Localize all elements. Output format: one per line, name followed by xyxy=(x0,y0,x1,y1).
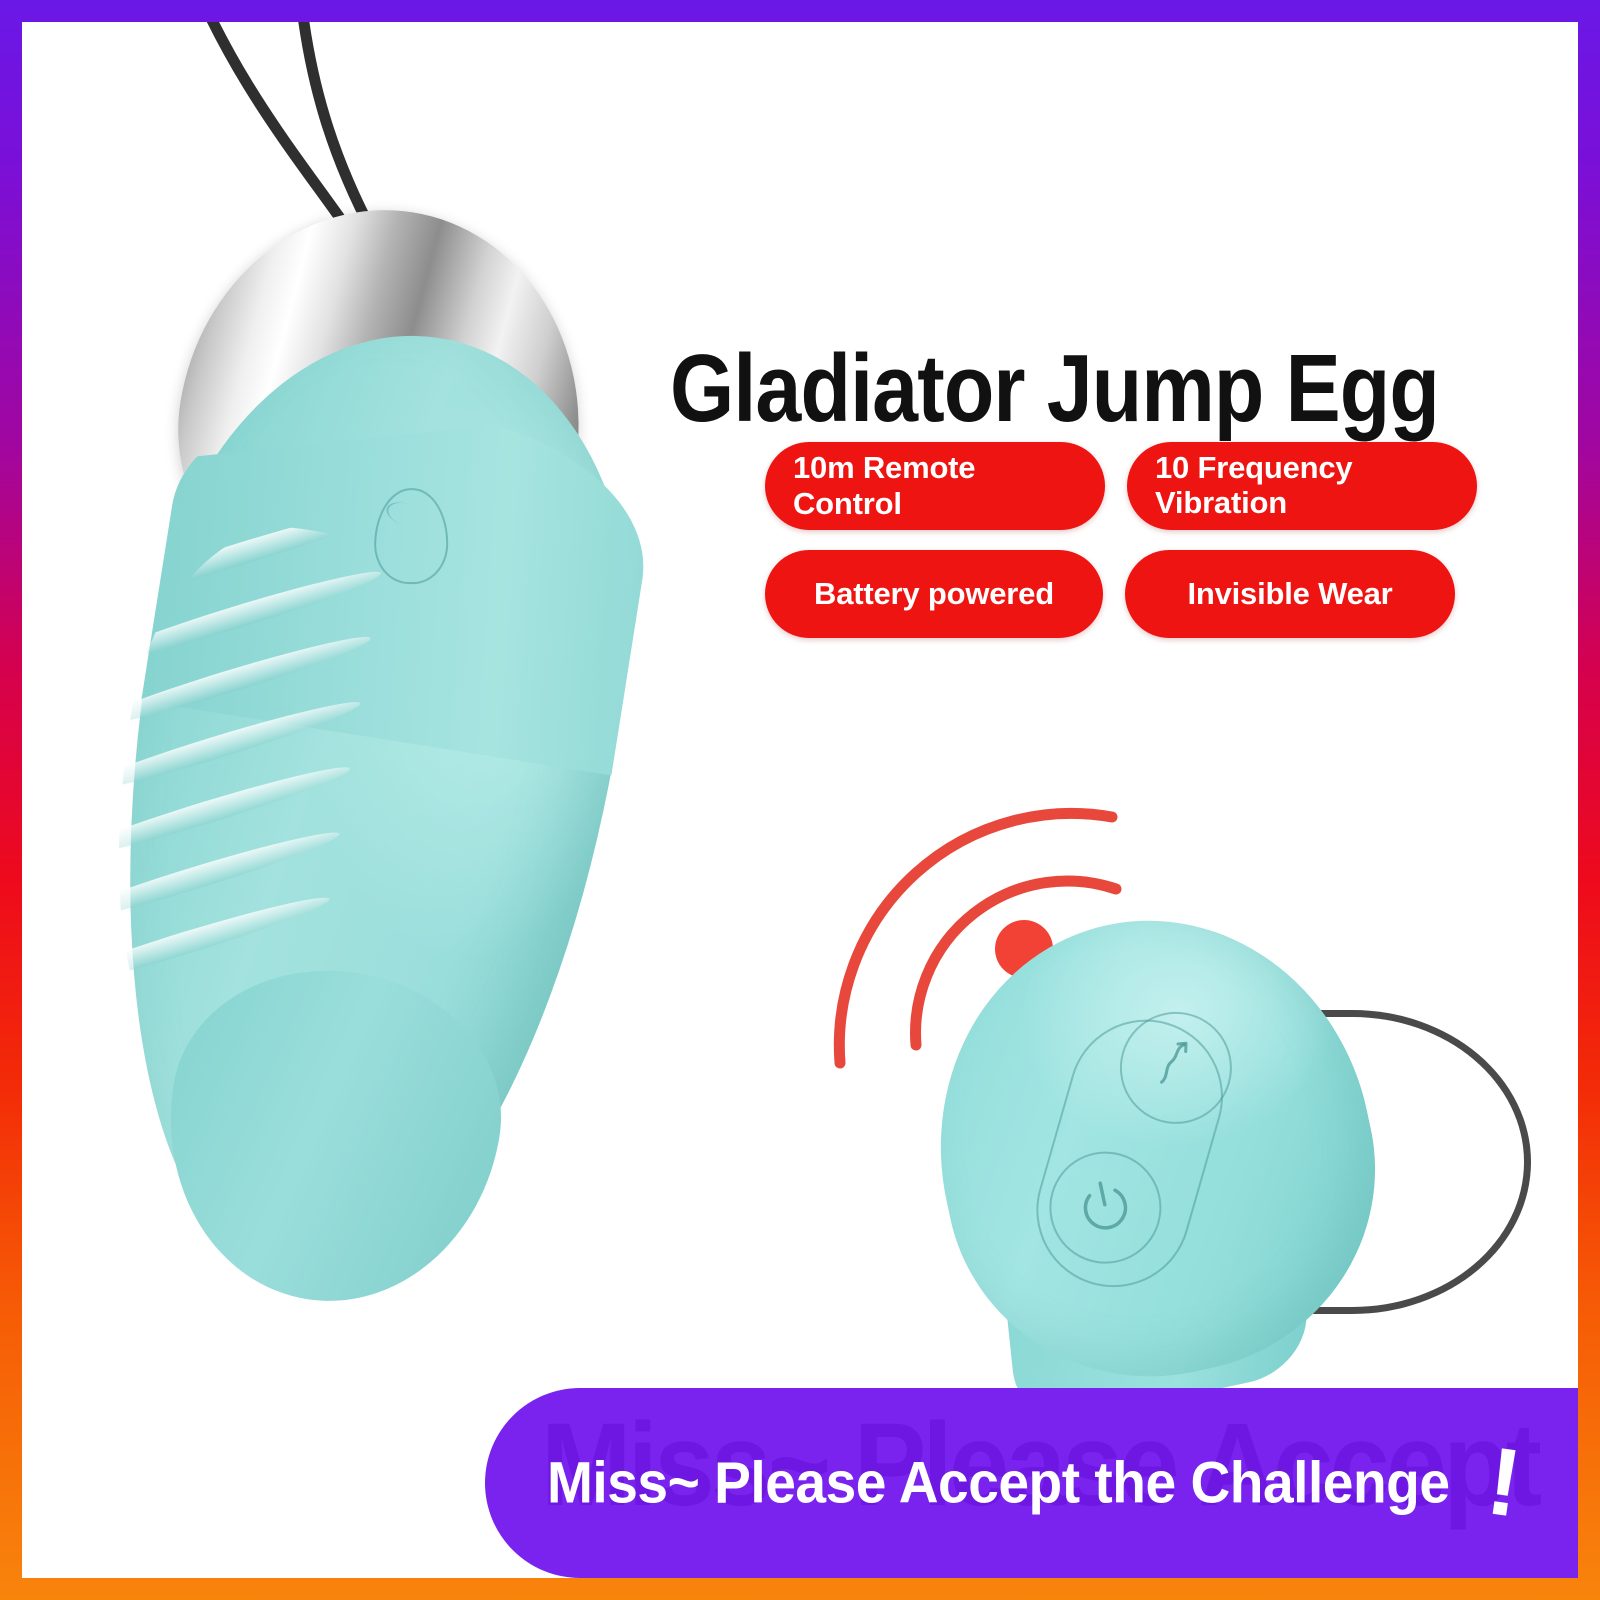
badge-label: 10m Remote Control xyxy=(793,450,1077,522)
remote-shell xyxy=(897,880,1412,1414)
page-title: Gladiator Jump Egg xyxy=(670,341,1410,437)
feature-badge-invisible-wear[interactable]: Invisible Wear xyxy=(1125,550,1455,638)
badge-label: 10 Frequency Vibration xyxy=(1155,451,1352,520)
ad-stage: Gladiator Jump Egg 10m Remote Control 10… xyxy=(22,22,1578,1578)
product-ad-card: Gladiator Jump Egg 10m Remote Control 10… xyxy=(0,0,1600,1600)
bottom-promo-banner: Miss~ Please Accept Miss~ Please Accept … xyxy=(485,1388,1578,1578)
power-icon xyxy=(1062,1164,1150,1252)
vibration-wave-icon xyxy=(1132,1024,1220,1112)
feature-badge-group: 10m Remote Control 10 Frequency Vibratio… xyxy=(765,442,1505,658)
badge-label-line2: Vibration xyxy=(1155,485,1287,520)
badge-label-line1: 10 Frequency xyxy=(1155,450,1352,485)
feature-badge-row-2: Battery powered Invisible Wear xyxy=(765,550,1505,638)
badge-label: Battery powered xyxy=(814,576,1054,612)
product-image-egg xyxy=(122,22,842,1372)
feature-badge-row-1: 10m Remote Control 10 Frequency Vibratio… xyxy=(765,442,1505,530)
feature-badge-battery-powered[interactable]: Battery powered xyxy=(765,550,1103,638)
badge-label: Invisible Wear xyxy=(1187,576,1392,612)
feature-badge-frequency-vibration[interactable]: 10 Frequency Vibration xyxy=(1127,442,1477,530)
banner-headline: Miss~ Please Accept the Challenge xyxy=(547,1450,1450,1517)
product-image-remote xyxy=(922,902,1542,1402)
feature-badge-remote-control[interactable]: 10m Remote Control xyxy=(765,442,1105,530)
